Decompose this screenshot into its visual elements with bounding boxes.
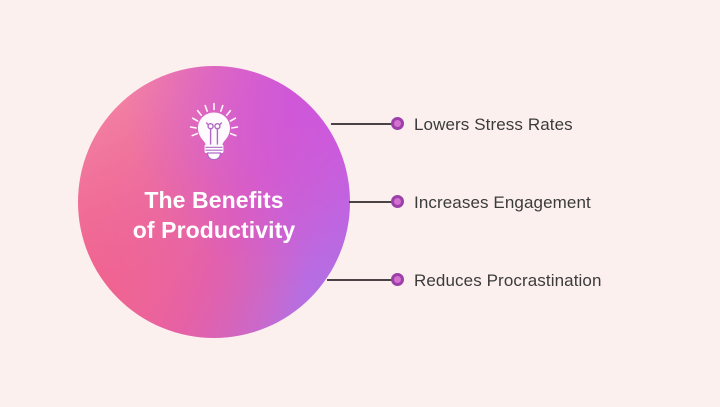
connector-line-1 [331, 123, 393, 125]
center-circle-node: The Benefits of Productivity [78, 66, 350, 338]
branch-label-3: Reduces Procrastination [414, 272, 602, 289]
infographic-canvas: The Benefits of Productivity Lowers Stre… [0, 0, 720, 407]
branch-label-2: Increases Engagement [414, 194, 591, 211]
connector-line-3 [327, 279, 393, 281]
center-title: The Benefits of Productivity [78, 186, 350, 245]
branch-label-1: Lowers Stress Rates [414, 116, 573, 133]
connector-line-2 [349, 201, 393, 203]
branch-dot-1[interactable] [391, 117, 404, 130]
branch-dot-2[interactable] [391, 195, 404, 208]
branch-dot-3[interactable] [391, 273, 404, 286]
lightbulb-icon [186, 102, 242, 164]
